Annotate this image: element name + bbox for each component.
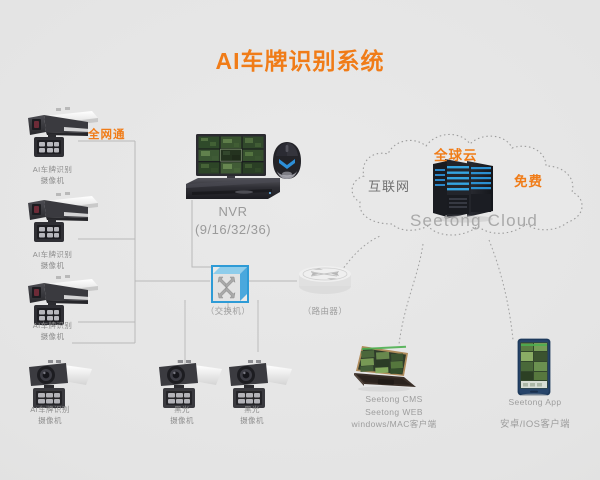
phone-label-line1: Seetong App	[489, 396, 581, 409]
camera-ai-2[interactable]	[18, 190, 104, 244]
camera-ai-4-label-line2: 摄像机	[0, 415, 100, 426]
phone-client[interactable]	[517, 338, 551, 401]
camera-ai-1-label-line1: AI车牌识别	[0, 164, 105, 175]
cloud-brand-label: Seetong Cloud	[410, 211, 538, 231]
laptop-label-line2: Seetong WEB	[330, 406, 458, 419]
laptop-client[interactable]	[348, 343, 420, 398]
camera-ai-4-label-line1: AI车牌识别	[0, 404, 100, 415]
nvr-label-line2: (9/16/32/36)	[168, 221, 298, 239]
camera-ai-3[interactable]	[18, 273, 104, 327]
camera-blacklight-2-label-line2: 摄像机	[208, 415, 296, 426]
camera-ai-2-label-line2: 摄像机	[0, 260, 105, 271]
phone-label-line2: 安卓/IOS客户端	[489, 419, 581, 432]
laptop-client-label: Seetong CMS Seetong WEB windows/MAC客户端	[330, 393, 458, 431]
camera-ai-3-label: AI车牌识别 摄像机	[0, 320, 105, 342]
camera-ai-3-label-line2: 摄像机	[0, 331, 105, 342]
camera-ai-4-label: AI车牌识别 摄像机	[0, 404, 100, 426]
camera-ai-2-label: AI车牌识别 摄像机	[0, 249, 105, 271]
camera-ai-4[interactable]	[20, 355, 106, 409]
camera-blacklight-2-label: 黑光 摄像机	[208, 404, 296, 426]
network-router[interactable]	[297, 264, 353, 301]
topology-diagram: AI车牌识别系统	[0, 0, 600, 480]
cloud-global-label: 全球云	[434, 144, 478, 164]
page-title: AI车牌识别系统	[0, 42, 600, 76]
camera-ai-3-label-line1: AI车牌识别	[0, 320, 105, 331]
laptop-label-line3: windows/MAC客户端	[330, 418, 458, 431]
router-label: （路由器）	[289, 305, 361, 318]
cloud-internet-label: 互联网	[368, 176, 410, 195]
nvr-label-line1: NVR	[168, 203, 298, 221]
camera-ai-1-label-line2: 摄像机	[0, 175, 105, 186]
camera-ai-2-label-line1: AI车牌识别	[0, 249, 105, 260]
phone-client-label-bottom: 安卓/IOS客户端	[489, 419, 581, 432]
cloud-free-label: 免费	[514, 170, 543, 190]
switch-label: （交换机）	[192, 305, 264, 318]
laptop-label-line1: Seetong CMS	[330, 393, 458, 406]
network-switch[interactable]	[211, 265, 249, 303]
phone-client-label-top: Seetong App	[489, 396, 581, 409]
camera-blacklight-2-label-line1: 黑光	[208, 404, 296, 415]
camera-blacklight-2[interactable]	[220, 355, 306, 409]
camera-ai-1-label: AI车牌识别 摄像机	[0, 164, 105, 186]
badge-all-network: 全网通	[88, 126, 126, 142]
nvr-label: NVR (9/16/32/36)	[168, 203, 298, 239]
